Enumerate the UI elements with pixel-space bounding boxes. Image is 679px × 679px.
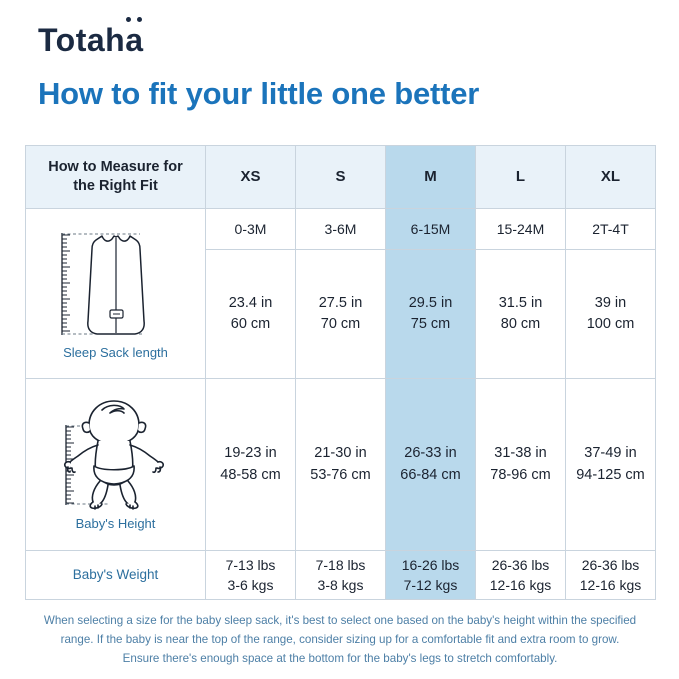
sack-length-xl-cm: 100 cm [566,314,655,335]
baby-height-xs-cm: 48-58 cm [206,465,295,486]
size-chart-table: How to Measure for the Right Fit XS S M … [25,145,656,600]
footnote-line-1: When selecting a size for the baby sleep… [25,612,655,631]
baby-height-label-cell: Baby's Height [26,379,206,551]
baby-height-xl: 37-49 in 94-125 cm [566,379,656,551]
sack-length-s: 27.5 in 70 cm [296,250,386,379]
baby-weight-xs-kgs: 3-6 kgs [206,575,295,595]
baby-weight-l-lbs: 26-36 lbs [476,555,565,575]
baby-height-s-in: 21-30 in [296,443,385,464]
age-value-m: 6-15M [386,209,476,250]
sleep-sack-caption: Sleep Sack length [63,345,168,360]
baby-weight-s-kgs: 3-8 kgs [296,575,385,595]
baby-weight-xl: 26-36 lbs 12-16 kgs [566,551,656,600]
baby-height-m: 26-33 in 66-84 cm [386,379,476,551]
baby-weight-xs-lbs: 7-13 lbs [206,555,295,575]
baby-height-s-cm: 53-76 cm [296,465,385,486]
sack-length-xs-cm: 60 cm [206,314,295,335]
baby-height-m-cm: 66-84 cm [386,465,475,486]
sack-length-l-in: 31.5 in [476,293,565,314]
umlaut-dots-icon [126,17,142,23]
footnote-line-2: range. If the baby is near the top of th… [25,631,655,650]
baby-height-m-in: 26-33 in [386,443,475,464]
brand-logo: Totaha [38,24,144,56]
brand-name-text: Totah [38,22,125,58]
baby-height-xl-in: 37-49 in [566,443,655,464]
baby-weight-row: Baby's Weight 7-13 lbs 3-6 kgs 7-18 lbs … [26,551,656,600]
size-header-s[interactable]: S [296,146,386,209]
baby-weight-label: Baby's Weight [26,551,206,600]
baby-icon [36,393,196,513]
sack-length-m: 29.5 in 75 cm [386,250,476,379]
age-value-xl: 2T-4T [566,209,656,250]
baby-weight-xs: 7-13 lbs 3-6 kgs [206,551,296,600]
baby-weight-m-kgs: 7-12 kgs [386,575,475,595]
baby-weight-l-kgs: 12-16 kgs [476,575,565,595]
age-row: Sleep Sack length 0-3M 3-6M 6-15M 15-24M… [26,209,656,250]
age-value-xs: 0-3M [206,209,296,250]
age-value-l: 15-24M [476,209,566,250]
baby-height-l-in: 31-38 in [476,443,565,464]
size-header-l[interactable]: L [476,146,566,209]
baby-weight-xl-lbs: 26-36 lbs [566,555,655,575]
size-header-xs[interactable]: XS [206,146,296,209]
sack-length-xl: 39 in 100 cm [566,250,656,379]
baby-height-l-cm: 78-96 cm [476,465,565,486]
sack-length-m-cm: 75 cm [386,314,475,335]
baby-weight-m: 16-26 lbs 7-12 kgs [386,551,476,600]
sack-length-m-in: 29.5 in [386,293,475,314]
size-header-m[interactable]: M [386,146,476,209]
sizing-footnote: When selecting a size for the baby sleep… [25,612,655,668]
sack-length-l-cm: 80 cm [476,314,565,335]
baby-height-s: 21-30 in 53-76 cm [296,379,386,551]
sack-length-s-in: 27.5 in [296,293,385,314]
age-value-s: 3-6M [296,209,386,250]
baby-height-xs-in: 19-23 in [206,443,295,464]
measure-header-cell: How to Measure for the Right Fit [26,146,206,209]
baby-height-xs: 19-23 in 48-58 cm [206,379,296,551]
baby-height-l: 31-38 in 78-96 cm [476,379,566,551]
sack-length-xs-in: 23.4 in [206,293,295,314]
sack-length-xs: 23.4 in 60 cm [206,250,296,379]
table-header-row: How to Measure for the Right Fit XS S M … [26,146,656,209]
sack-length-l: 31.5 in 80 cm [476,250,566,379]
baby-weight-xl-kgs: 12-16 kgs [566,575,655,595]
sack-length-s-cm: 70 cm [296,314,385,335]
baby-weight-s-lbs: 7-18 lbs [296,555,385,575]
baby-weight-s: 7-18 lbs 3-8 kgs [296,551,386,600]
baby-height-xl-cm: 94-125 cm [566,465,655,486]
baby-weight-l: 26-36 lbs 12-16 kgs [476,551,566,600]
brand-umlaut-letter: a [125,24,143,56]
baby-height-row: Baby's Height 19-23 in 48-58 cm 21-30 in… [26,379,656,551]
sack-length-xl-in: 39 in [566,293,655,314]
size-header-xl[interactable]: XL [566,146,656,209]
baby-height-caption: Baby's Height [76,515,156,534]
footnote-line-3: Ensure there's enough space at the botto… [25,650,655,669]
baby-weight-m-lbs: 16-26 lbs [386,555,475,575]
sleep-sack-icon [40,225,192,343]
page-title: How to fit your little one better [38,76,479,112]
sleep-sack-label-cell: Sleep Sack length [26,209,206,379]
